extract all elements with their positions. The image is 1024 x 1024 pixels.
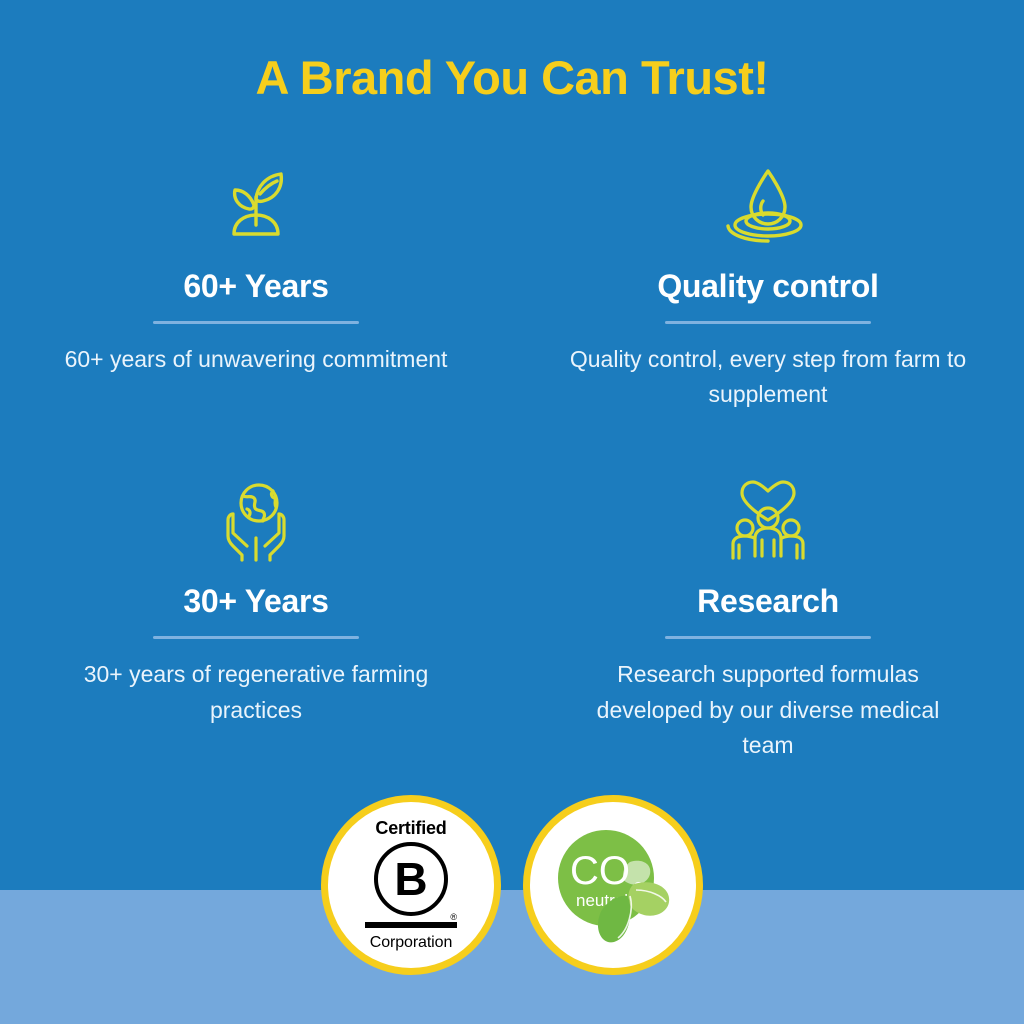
bcorp-certified-label: Certified (375, 819, 446, 837)
feature-description: Quality control, every step from farm to… (568, 342, 968, 413)
co2-neutral-badge: CO 2 neutral (523, 795, 703, 975)
feature-card-research: Research Research supported formulas dev… (512, 473, 1024, 764)
feature-description: Research supported formulas developed by… (568, 657, 968, 764)
feature-card-quality-control: Quality control Quality control, every s… (512, 158, 1024, 413)
svg-text:CO: CO (570, 849, 630, 893)
b-corp-certification-badge: Certified B ® Corporation (321, 795, 501, 975)
hands-holding-globe-icon (213, 473, 299, 569)
divider (665, 636, 871, 639)
divider (153, 321, 359, 324)
feature-description: 60+ years of unwavering commitment (65, 342, 448, 378)
page-title: A Brand You Can Trust! (0, 52, 1024, 104)
sprout-icon (213, 158, 299, 254)
co2-neutral-graphic: CO 2 neutral (538, 810, 688, 960)
bcorp-corporation-label: Corporation (370, 935, 453, 951)
feature-title: Quality control (657, 268, 878, 305)
registered-trademark-icon: ® (450, 913, 457, 922)
bcorp-rule (365, 922, 457, 928)
feature-card-years-60: 60+ Years 60+ years of unwavering commit… (0, 158, 512, 413)
divider (665, 321, 871, 324)
feature-card-years-30: 30+ Years 30+ years of regenerative farm… (0, 473, 512, 764)
certification-badges: Certified B ® Corporation CO 2 neutral (0, 795, 1024, 975)
feature-title: 30+ Years (183, 583, 328, 620)
feature-title: Research (697, 583, 839, 620)
bcorp-rule-wrap: ® (365, 922, 457, 928)
feature-grid: 60+ Years 60+ years of unwavering commit… (0, 158, 1024, 764)
feature-title: 60+ Years (183, 268, 328, 305)
family-heart-icon (724, 473, 812, 569)
water-drop-icon (723, 158, 813, 254)
promo-poster: A Brand You Can Trust! 60+ Years 60+ yea… (0, 0, 1024, 1024)
bcorp-b-letter: B (374, 842, 448, 916)
divider (153, 636, 359, 639)
feature-description: 30+ years of regenerative farming practi… (56, 657, 456, 728)
